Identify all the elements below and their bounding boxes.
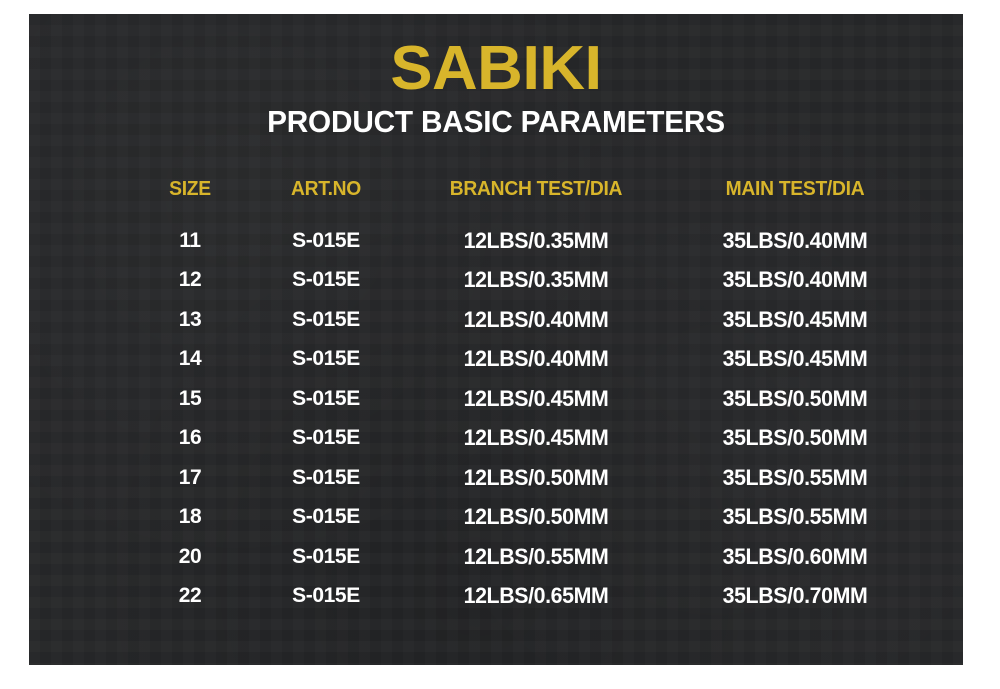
cell-main: 35LBS/0.50MM — [674, 419, 917, 459]
table-row: 16S-015E12LBS/0.45MM35LBS/0.50MM — [130, 419, 920, 459]
cell-art-no: S-015E — [250, 419, 402, 459]
cell-art-no: S-015E — [250, 498, 402, 538]
cell-size: 15 — [130, 379, 250, 419]
cell-main: 35LBS/0.55MM — [674, 458, 917, 498]
column-header-branch-test-dia: BRANCH TEST/DIA — [410, 177, 662, 221]
cell-art-no: S-015E — [250, 221, 402, 261]
cell-size: 17 — [130, 458, 250, 498]
cell-main: 35LBS/0.55MM — [674, 498, 917, 538]
cell-main: 35LBS/0.50MM — [674, 379, 917, 419]
cell-branch: 12LBS/0.35MM — [406, 221, 666, 261]
cell-size: 13 — [130, 300, 250, 340]
cell-branch: 12LBS/0.50MM — [406, 458, 666, 498]
table-body: 11S-015E12LBS/0.35MM35LBS/0.40MM12S-015E… — [130, 221, 920, 616]
cell-main: 35LBS/0.40MM — [674, 261, 917, 301]
table-row: 14S-015E12LBS/0.40MM35LBS/0.45MM — [130, 340, 920, 380]
column-header-size: SIZE — [134, 177, 247, 221]
parameters-table: SIZE ART.NO BRANCH TEST/DIA MAIN TEST/DI… — [130, 177, 920, 616]
cell-branch: 12LBS/0.45MM — [406, 419, 666, 459]
cell-main: 35LBS/0.70MM — [674, 577, 917, 617]
cell-branch: 12LBS/0.35MM — [406, 261, 666, 301]
column-header-art-no: ART.NO — [255, 177, 398, 221]
spec-sheet-panel: SABIKI PRODUCT BASIC PARAMETERS SIZE ART… — [29, 14, 963, 665]
table-row: 18S-015E12LBS/0.50MM35LBS/0.55MM — [130, 498, 920, 538]
cell-art-no: S-015E — [250, 577, 402, 617]
page-subtitle: PRODUCT BASIC PARAMETERS — [48, 99, 945, 137]
header-block: SABIKI PRODUCT BASIC PARAMETERS — [29, 14, 963, 137]
cell-size: 12 — [130, 261, 250, 301]
cell-branch: 12LBS/0.40MM — [406, 340, 666, 380]
cell-size: 14 — [130, 340, 250, 380]
cell-size: 18 — [130, 498, 250, 538]
cell-size: 20 — [130, 537, 250, 577]
table-row: 12S-015E12LBS/0.35MM35LBS/0.40MM — [130, 261, 920, 301]
column-header-main-test-dia: MAIN TEST/DIA — [678, 177, 913, 221]
brand-title: SABIKI — [29, 14, 963, 99]
cell-art-no: S-015E — [250, 458, 402, 498]
table-header-row: SIZE ART.NO BRANCH TEST/DIA MAIN TEST/DI… — [130, 177, 920, 221]
cell-art-no: S-015E — [250, 300, 402, 340]
cell-size: 16 — [130, 419, 250, 459]
cell-size: 22 — [130, 577, 250, 617]
table-row: 11S-015E12LBS/0.35MM35LBS/0.40MM — [130, 221, 920, 261]
table-row: 15S-015E12LBS/0.45MM35LBS/0.50MM — [130, 379, 920, 419]
cell-art-no: S-015E — [250, 537, 402, 577]
cell-branch: 12LBS/0.55MM — [406, 537, 666, 577]
cell-main: 35LBS/0.45MM — [674, 300, 917, 340]
cell-art-no: S-015E — [250, 379, 402, 419]
table-row: 20S-015E12LBS/0.55MM35LBS/0.60MM — [130, 537, 920, 577]
cell-branch: 12LBS/0.65MM — [406, 577, 666, 617]
cell-size: 11 — [130, 221, 250, 261]
cell-main: 35LBS/0.45MM — [674, 340, 917, 380]
cell-branch: 12LBS/0.40MM — [406, 300, 666, 340]
cell-branch: 12LBS/0.50MM — [406, 498, 666, 538]
cell-main: 35LBS/0.40MM — [674, 221, 917, 261]
table-row: 22S-015E12LBS/0.65MM35LBS/0.70MM — [130, 577, 920, 617]
cell-main: 35LBS/0.60MM — [674, 537, 917, 577]
table-header: SIZE ART.NO BRANCH TEST/DIA MAIN TEST/DI… — [130, 177, 920, 221]
table-row: 13S-015E12LBS/0.40MM35LBS/0.45MM — [130, 300, 920, 340]
cell-art-no: S-015E — [250, 340, 402, 380]
cell-branch: 12LBS/0.45MM — [406, 379, 666, 419]
table-row: 17S-015E12LBS/0.50MM35LBS/0.55MM — [130, 458, 920, 498]
cell-art-no: S-015E — [250, 261, 402, 301]
